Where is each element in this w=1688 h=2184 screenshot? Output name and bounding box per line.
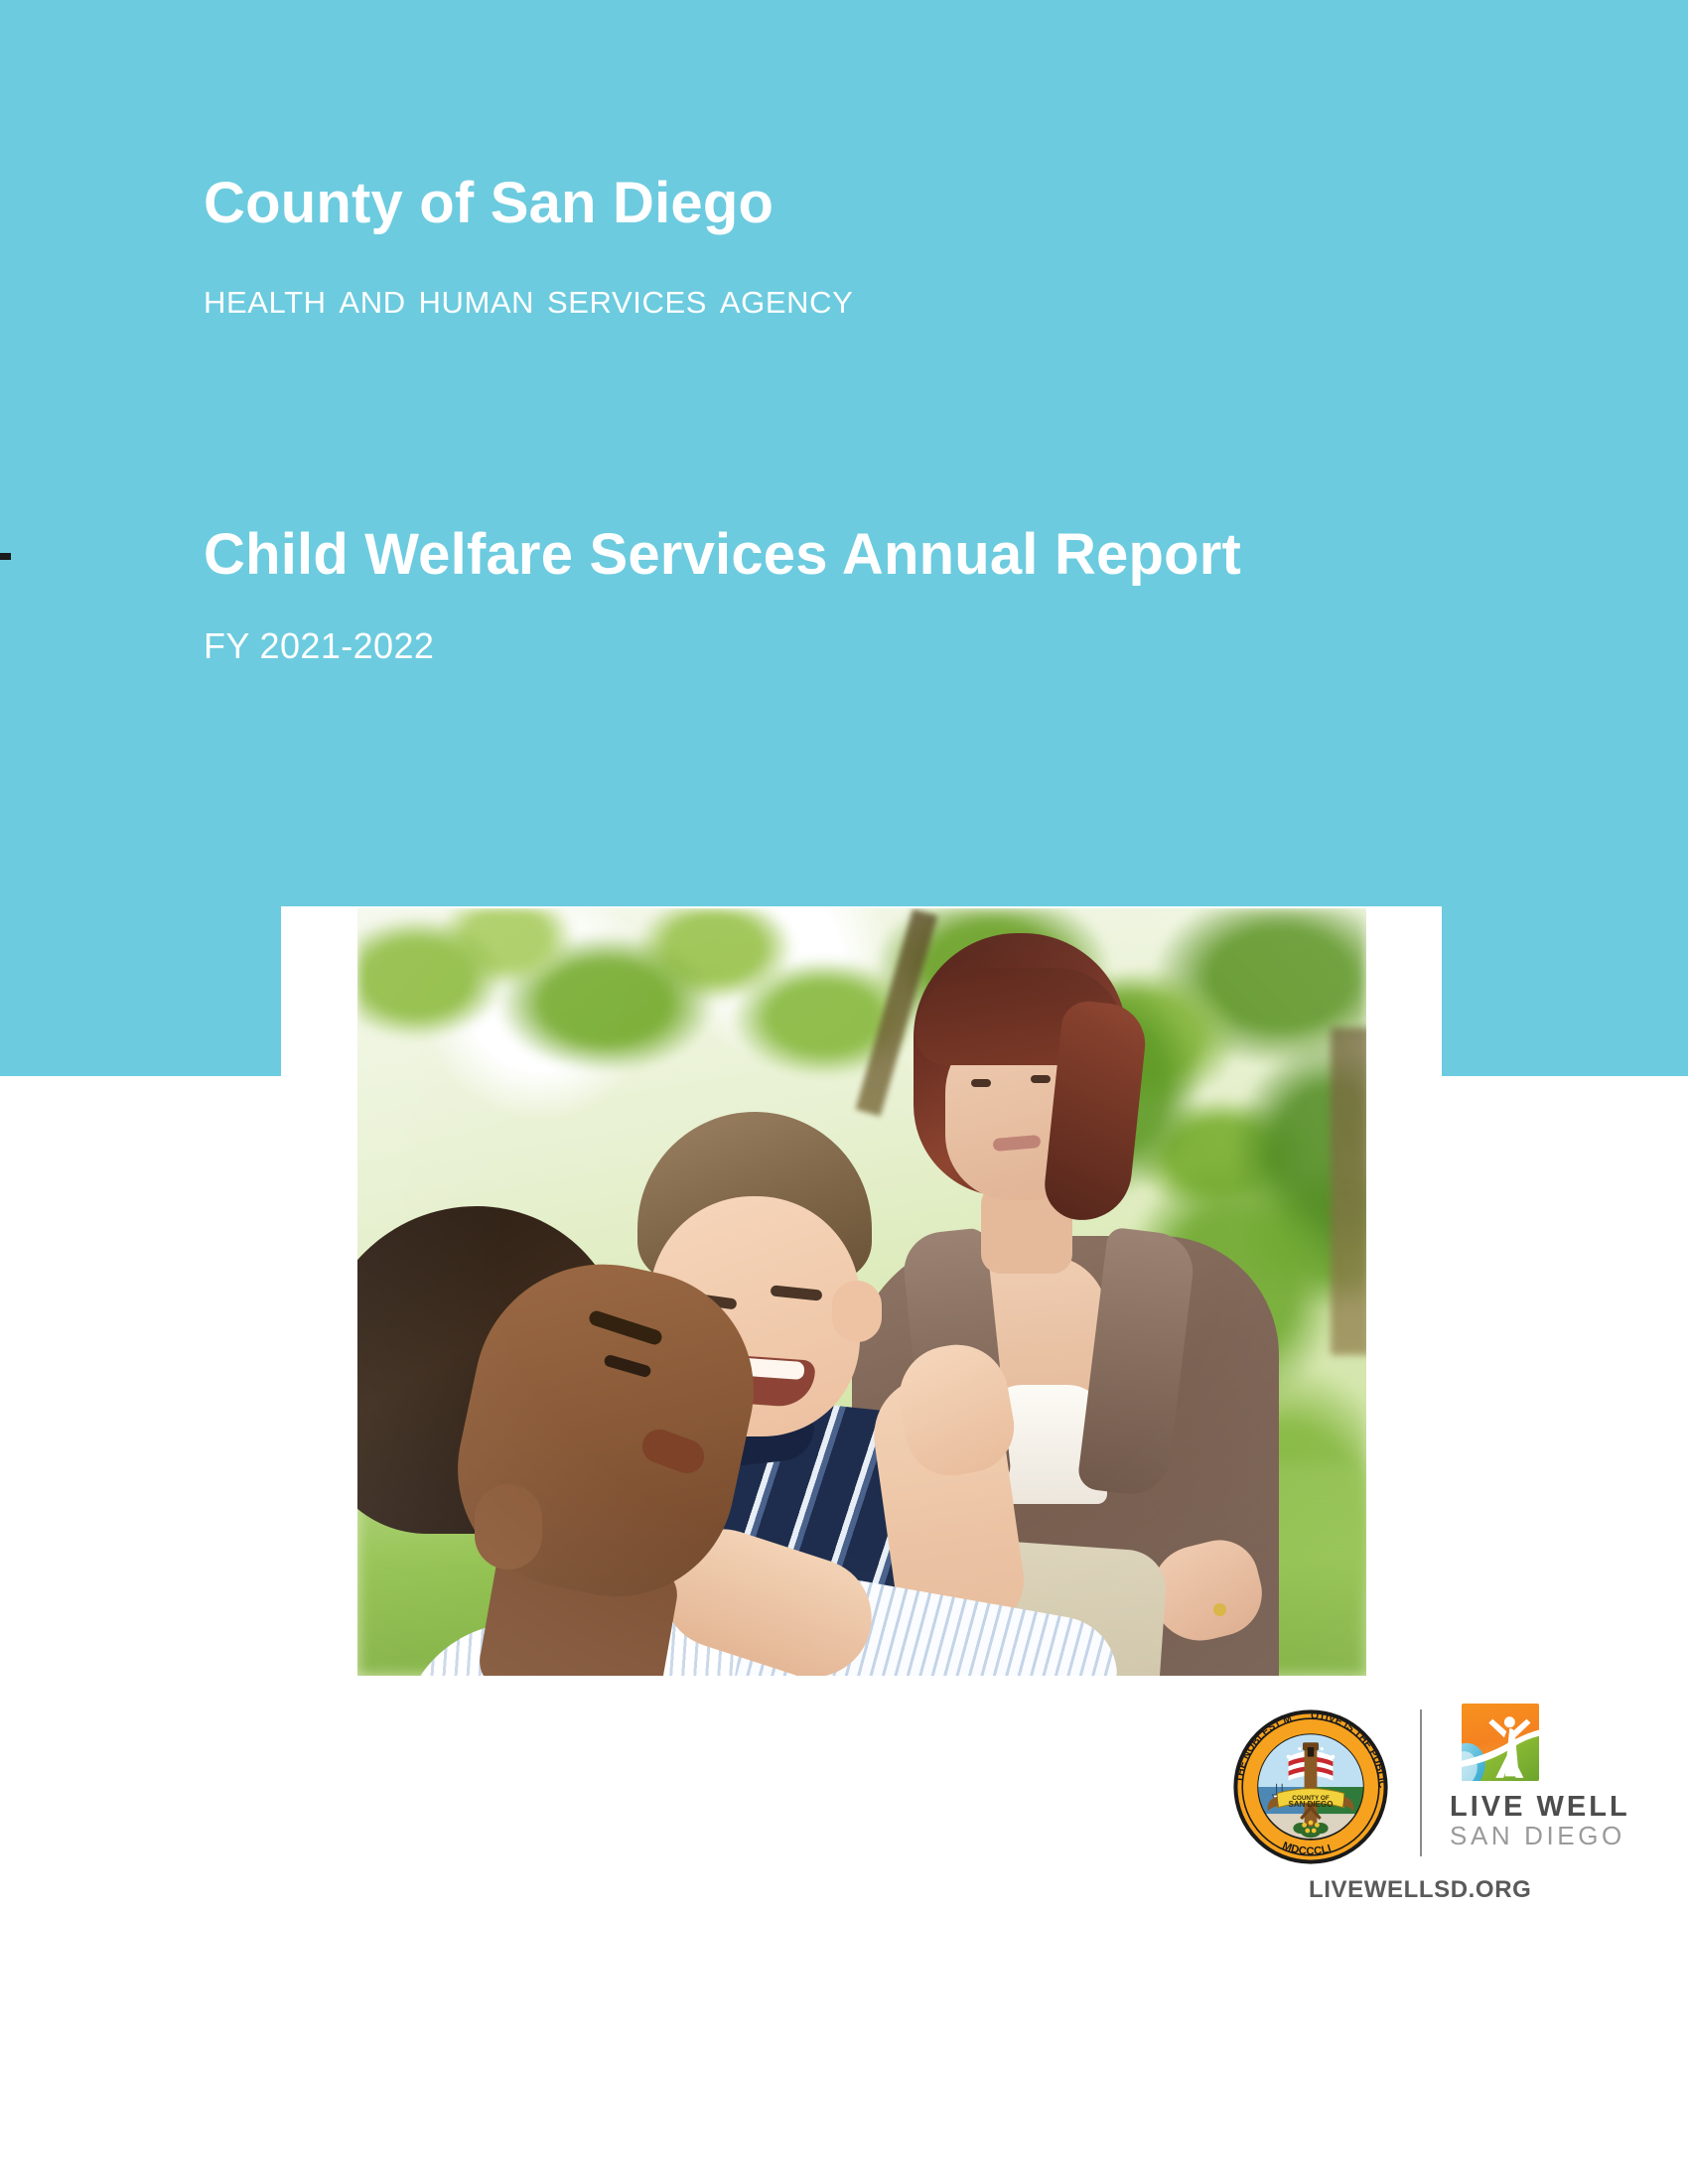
organization-name: County of San Diego — [204, 174, 1395, 234]
svg-text:SAN DIEGO: SAN DIEGO — [1289, 1800, 1334, 1809]
logo-divider — [1420, 1709, 1422, 1856]
live-well-san-diego-logo: LIVE WELL SAN DIEGO — [1450, 1704, 1663, 1851]
footer-logo-row: COUNTY OF SAN DIEGO — [1211, 1700, 1668, 1948]
live-well-wordmark: LIVE WELL SAN DIEGO — [1450, 1793, 1663, 1851]
report-fiscal-year: FY 2021-2022 — [204, 625, 434, 667]
live-well-line2: SAN DIEGO — [1450, 1822, 1663, 1851]
cover-photograph — [357, 908, 1366, 1676]
live-well-line1: LIVE WELL — [1450, 1793, 1663, 1822]
department-name: Health and Human Services Agency — [204, 274, 1395, 324]
band-right-extension — [1442, 906, 1688, 1076]
photo-vignette — [357, 908, 1366, 1676]
band-left-extension — [0, 906, 281, 1076]
report-title: Child Welfare Services Annual Report — [204, 521, 1241, 588]
crop-registration-mark — [0, 553, 11, 560]
county-seal-icon: COUNTY OF SAN DIEGO — [1231, 1707, 1390, 1866]
live-well-mark-icon — [1462, 1704, 1539, 1781]
cover-title-block: County of San Diego Health and Human Ser… — [204, 174, 1395, 324]
live-well-url[interactable]: LIVEWELLSD.ORG — [1309, 1876, 1531, 1904]
